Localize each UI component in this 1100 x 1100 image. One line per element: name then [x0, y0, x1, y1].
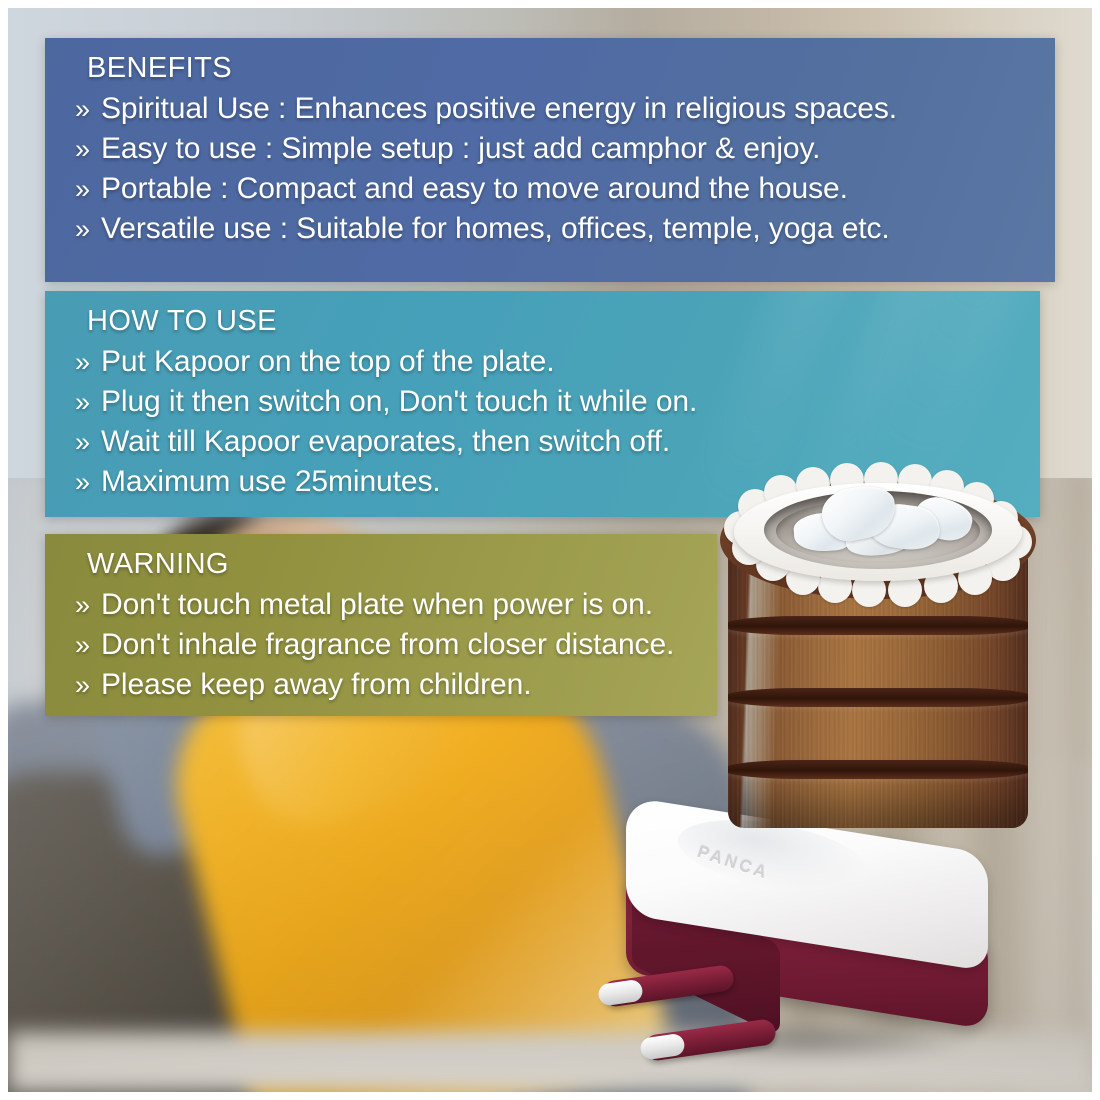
list-item-text: Maximum use 25minutes.	[101, 462, 441, 502]
panel-benefits-title: BENEFITS	[87, 52, 1033, 85]
list-item-text: Portable : Compact and easy to move arou…	[101, 169, 848, 209]
list-item-text: Easy to use : Simple setup : just add ca…	[101, 129, 820, 169]
list-item-text: Please keep away from children.	[101, 665, 531, 705]
list-item-text: Put Kapoor on the top of the plate.	[101, 342, 555, 382]
panel-benefits-list: » Spiritual Use : Enhances positive ener…	[75, 89, 1033, 249]
panel-warning-title: WARNING	[87, 548, 695, 581]
bullet-icon: »	[75, 344, 101, 380]
list-item-text: Wait till Kapoor evaporates, then switch…	[101, 422, 670, 462]
bullet-icon: »	[75, 587, 101, 623]
list-item: » Easy to use : Simple setup : just add …	[75, 129, 1033, 169]
bullet-icon: »	[75, 211, 101, 247]
list-item: » Don't inhale fragrance from closer dis…	[75, 625, 695, 665]
list-item-text: Plug it then switch on, Don't touch it w…	[101, 382, 697, 422]
bullet-icon: »	[75, 131, 101, 167]
product-camphor-diffuser: PANCA	[608, 463, 1078, 1083]
list-item: » Portable : Compact and easy to move ar…	[75, 169, 1033, 209]
bullet-icon: »	[75, 667, 101, 703]
list-item-text: Versatile use : Suitable for homes, offi…	[101, 209, 890, 249]
panel-warning-list: » Don't touch metal plate when power is …	[75, 585, 695, 705]
list-item: » Spiritual Use : Enhances positive ener…	[75, 89, 1033, 129]
infographic-canvas: BENEFITS » Spiritual Use : Enhances posi…	[0, 0, 1100, 1100]
bullet-icon: »	[75, 464, 101, 500]
wood-groove	[728, 760, 1028, 779]
panel-benefits: BENEFITS » Spiritual Use : Enhances posi…	[45, 38, 1055, 282]
bullet-icon: »	[75, 627, 101, 663]
list-item-text: Spiritual Use : Enhances positive energy…	[101, 89, 897, 129]
list-item: » Don't touch metal plate when power is …	[75, 585, 695, 625]
bullet-icon: »	[75, 91, 101, 127]
list-item-text: Don't inhale fragrance from closer dista…	[101, 625, 674, 665]
plug-adapter: PANCA	[608, 813, 1028, 1073]
infographic-scene: BENEFITS » Spiritual Use : Enhances posi…	[8, 8, 1092, 1092]
list-item-text: Don't touch metal plate when power is on…	[101, 585, 653, 625]
wood-groove	[728, 616, 1028, 635]
bullet-icon: »	[75, 171, 101, 207]
list-item: » Versatile use : Suitable for homes, of…	[75, 209, 1033, 249]
list-item: » Please keep away from children.	[75, 665, 695, 705]
bullet-icon: »	[75, 384, 101, 420]
scalloped-rim	[718, 469, 1038, 593]
wood-groove	[728, 688, 1028, 707]
bullet-icon: »	[75, 424, 101, 460]
